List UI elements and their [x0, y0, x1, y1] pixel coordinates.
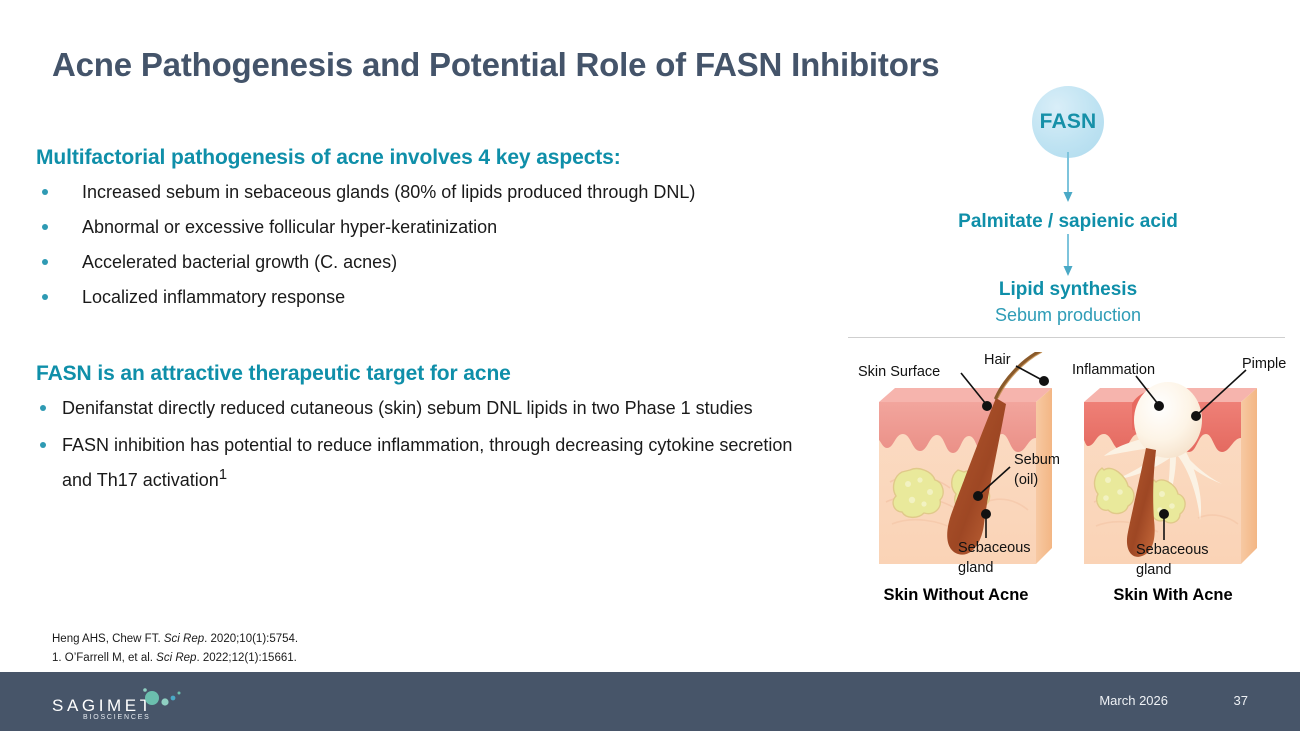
page-title: Acne Pathogenesis and Potential Role of … [52, 46, 939, 84]
label-hair: Hair [984, 352, 1011, 368]
bullet-dot-icon [42, 224, 48, 230]
pathway-step-1: Palmitate / sapienic acid [846, 211, 1290, 233]
section-divider [848, 337, 1285, 338]
pathway-step-1-label: Palmitate / sapienic acid [958, 211, 1178, 232]
label-skin-surface: Skin Surface [858, 364, 940, 380]
footnote-ref: 1 [219, 466, 227, 483]
figure-caption-without-acne: Skin Without Acne [846, 586, 1066, 605]
footnote-journal: Sci Rep [164, 633, 204, 645]
fasn-pathway-diagram: FASN Palmitate / sapienic acid Lipid syn… [846, 86, 1290, 336]
bullet-dot-icon [40, 405, 46, 411]
company-logo: SAGIMET BIOSCIENCES [52, 686, 212, 724]
list-item-label: Localized inflammatory response [82, 287, 345, 307]
bullet-dot-icon [42, 294, 48, 300]
callout-dot-sebaceous-left [981, 509, 991, 519]
footnote-journal: Sci Rep [156, 652, 196, 664]
pathway-step-2-label: Lipid synthesis [999, 279, 1137, 300]
footnote-text: 1. O’Farrell M, et al. [52, 652, 156, 664]
slide-canvas: Acne Pathogenesis and Potential Role of … [0, 0, 1300, 731]
callout-dot-pimple [1191, 411, 1201, 421]
label-sebaceous-gland-right: Sebaceous [1136, 542, 1209, 558]
list-item: Localized inflammatory response [36, 283, 826, 312]
logo-tagline: BIOSCIENCES [83, 714, 151, 721]
logo-dots-icon [136, 686, 186, 708]
section-heading-fasn-target: FASN is an attractive therapeutic target… [36, 362, 826, 386]
list-item-label: Increased sebum in sebaceous glands (80%… [82, 182, 695, 202]
bullet-dot-icon [42, 259, 48, 265]
callout-dot-hair [1039, 376, 1049, 386]
list-item-label: Denifanstat directly reduced cutaneous (… [62, 398, 753, 418]
bullet-list-fasn-target: Denifanstat directly reduced cutaneous (… [36, 394, 826, 495]
callout-dot-sebaceous-right [1159, 509, 1169, 519]
fasn-node-label: FASN [1040, 110, 1097, 134]
footer-date: March 2026 [1099, 693, 1168, 708]
label-sebaceous-gland-left-line2: gland [958, 560, 993, 576]
section-fasn-target: FASN is an attractive therapeutic target… [36, 362, 826, 495]
footnote-item: Heng AHS, Chew FT. Sci Rep. 2020;10(1):5… [52, 630, 298, 649]
arrow-down-icon [1061, 234, 1075, 283]
list-item-label: Abnormal or excessive follicular hyper-k… [82, 217, 497, 237]
bullet-dot-icon [42, 189, 48, 195]
list-item: FASN inhibition has potential to reduce … [36, 431, 826, 495]
fasn-node: FASN [1032, 86, 1104, 158]
list-item-label: FASN inhibition has potential to reduce … [62, 435, 792, 490]
pathway-step-2-sub: Sebum production [846, 305, 1290, 326]
footnote-item: 1. O’Farrell M, et al. Sci Rep. 2022;12(… [52, 649, 298, 668]
figure-caption-with-acne: Skin With Acne [1068, 586, 1278, 605]
footer-page-number: 37 [1234, 693, 1248, 708]
bullet-dot-icon [40, 442, 46, 448]
label-sebum: Sebum [1014, 452, 1060, 468]
callout-dot-inflammation [1154, 401, 1164, 411]
list-item: Accelerated bacterial growth (C. acnes) [36, 248, 826, 277]
label-inflammation: Inflammation [1072, 362, 1155, 378]
list-item: Abnormal or excessive follicular hyper-k… [36, 213, 826, 242]
label-sebaceous-gland-right-line2: gland [1136, 562, 1171, 578]
pimple-bulge [1134, 382, 1202, 458]
footnote-citation: . 2020;10(1):5754. [204, 633, 298, 645]
skin-comparison-figures: Skin Surface Hair Sebum (oil) Sebaceous … [846, 352, 1294, 612]
skin-block-right [1084, 382, 1257, 564]
section-heading-pathogenesis: Multifactorial pathogenesis of acne invo… [36, 146, 826, 170]
arrow-down-icon [1061, 152, 1075, 209]
pathway-step-2-sub-label: Sebum production [995, 305, 1141, 325]
section-pathogenesis: Multifactorial pathogenesis of acne invo… [36, 146, 826, 312]
list-item: Denifanstat directly reduced cutaneous (… [36, 394, 826, 423]
content-column: Multifactorial pathogenesis of acne invo… [36, 146, 826, 503]
callout-dot-skin-surface [982, 401, 992, 411]
list-item: Increased sebum in sebaceous glands (80%… [36, 178, 826, 207]
label-sebaceous-gland-left: Sebaceous [958, 540, 1031, 556]
label-sebum-line2: (oil) [1014, 472, 1038, 488]
list-item-label: Accelerated bacterial growth (C. acnes) [82, 252, 397, 272]
skin-without-acne-illustration: Skin Surface Hair Sebum (oil) Sebaceous … [846, 352, 1294, 592]
bullet-list-pathogenesis: Increased sebum in sebaceous glands (80%… [36, 178, 826, 312]
label-pimple: Pimple [1242, 356, 1286, 372]
pathway-step-2: Lipid synthesis [846, 279, 1290, 301]
footnotes: Heng AHS, Chew FT. Sci Rep. 2020;10(1):5… [52, 630, 298, 668]
callout-dot-sebum [973, 491, 983, 501]
footnote-citation: . 2022;12(1):15661. [196, 652, 296, 664]
footer-bar: SAGIMET BIOSCIENCES March 2026 37 [0, 672, 1300, 731]
footnote-text: Heng AHS, Chew FT. [52, 633, 164, 645]
